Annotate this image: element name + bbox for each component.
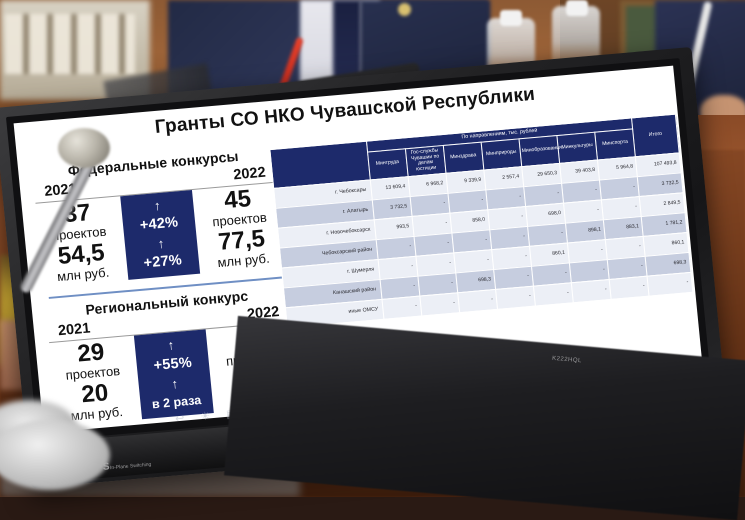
federal-delta-amount: +27%: [143, 253, 183, 272]
table-total-header: Итого: [632, 114, 679, 156]
table-cell: -: [571, 279, 611, 302]
table-column-header: Минздрава: [443, 142, 484, 173]
table-cell: -: [420, 293, 460, 316]
table-column-header: Минтруда: [367, 149, 408, 180]
table-row-total: -: [647, 272, 692, 296]
microphone-head: [58, 128, 110, 168]
bottle-cap-1: [500, 10, 522, 26]
up-arrow-icon: ↑: [167, 339, 175, 351]
federal-delta-count: +42%: [139, 215, 179, 234]
table-cell: -: [458, 289, 498, 312]
table-cell: -: [533, 283, 573, 306]
table-column-header: Минспорта: [595, 129, 636, 160]
osd-brightness-icon[interactable]: ☀: [200, 409, 211, 423]
up-arrow-icon: ↑: [153, 199, 161, 211]
table-column-header: Минобразования: [519, 135, 560, 166]
regional-delta-amount: в 2 раза: [151, 393, 202, 411]
grants-table: По направлениям, тыс. рублей Итого Минтр…: [269, 114, 693, 328]
table-column-header: Минкультуры: [557, 132, 598, 163]
table-cell: -: [609, 276, 649, 299]
wall-slats: [5, 14, 135, 74]
bottle-cap-2: [566, 0, 588, 16]
block-regional-delta-badge: ↑ +55% ↑ в 2 раза: [134, 329, 214, 419]
up-arrow-icon: ↑: [157, 237, 165, 249]
block-regional-year-left: 2021: [57, 320, 91, 339]
block-federal-year-right: 2022: [233, 165, 267, 184]
lapel-pin: [398, 3, 411, 16]
osd-back-icon[interactable]: ↩: [175, 412, 185, 426]
table-column-header: Минприроды: [481, 139, 522, 170]
regional-delta-count: +55%: [153, 355, 193, 374]
up-arrow-icon: ↑: [171, 378, 179, 390]
table-cell: -: [382, 296, 422, 319]
ips-sublabel: In-Plane Switching: [110, 462, 152, 472]
table-column-header: Гос-службы Чувашии по делам юстиции: [405, 145, 446, 176]
table-cell: -: [495, 286, 535, 309]
block-federal-delta-badge: ↑ +42% ↑ +27%: [120, 190, 200, 280]
